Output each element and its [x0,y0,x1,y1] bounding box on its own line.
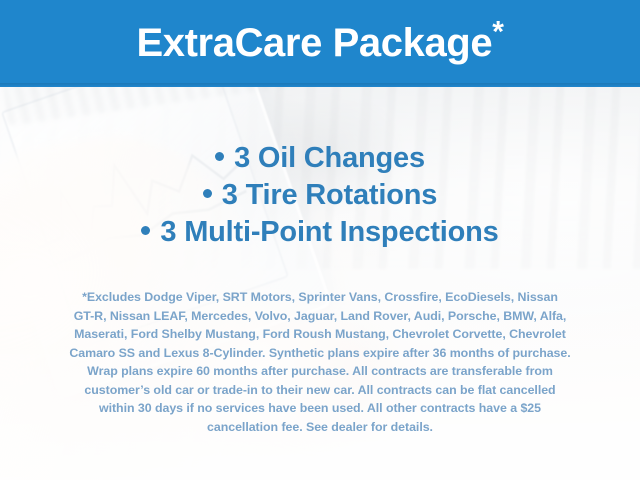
bullet-dot-icon [215,152,224,161]
extracare-package-promo-card: ExtraCare Package* 3 Oil Changes 3 Tire … [0,0,640,480]
disclaimer-text: *Excludes Dodge Viper, SRT Motors, Sprin… [28,288,612,436]
header-band: ExtraCare Package* [0,0,640,87]
disclaimer-line: Maserati, Ford Shelby Mustang, Ford Rous… [28,325,612,344]
benefit-label: 3 Oil Changes [234,142,425,174]
disclaimer-line: customer’s old car or trade-in to their … [28,381,612,400]
disclaimer-line: *Excludes Dodge Viper, SRT Motors, Sprin… [28,288,612,307]
benefit-item-tire-rotations: 3 Tire Rotations [0,177,640,214]
page-title-text: ExtraCare Package [137,21,493,65]
benefit-item-oil-changes: 3 Oil Changes [0,140,640,177]
page-title-asterisk: * [492,15,503,48]
bullet-dot-icon [203,189,212,198]
benefit-label: 3 Tire Rotations [222,179,437,211]
disclaimer-line: Wrap plans expire 60 months after purcha… [28,362,612,381]
page-title: ExtraCare Package* [137,23,504,65]
benefit-label: 3 Multi-Point Inspections [160,216,498,248]
benefits-list: 3 Oil Changes 3 Tire Rotations 3 Multi-P… [0,140,640,251]
disclaimer-line: within 30 days if no services have been … [28,399,612,418]
disclaimer-line: cancellation fee. See dealer for details… [28,418,612,437]
disclaimer-line: GT-R, Nissan LEAF, Mercedes, Volvo, Jagu… [28,307,612,326]
header-band-bottom-shadow [0,83,640,87]
benefit-item-multi-point-inspections: 3 Multi-Point Inspections [0,214,640,251]
disclaimer-line: Camaro SS and Lexus 8-Cylinder. Syntheti… [28,344,612,363]
bullet-dot-icon [141,226,150,235]
